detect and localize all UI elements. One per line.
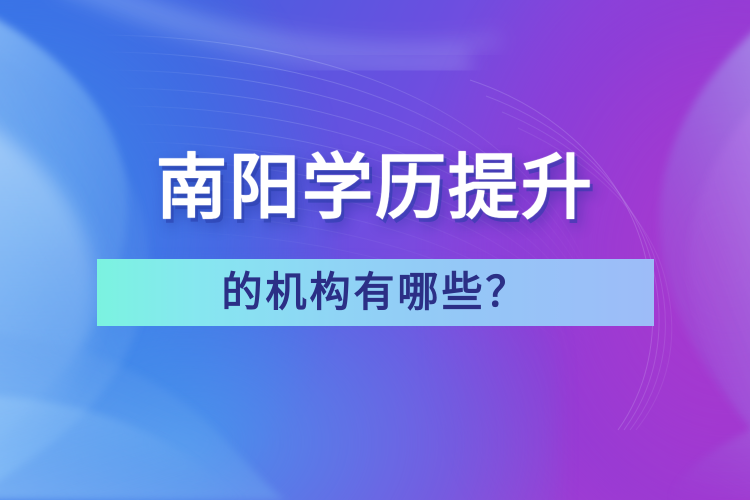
banner-subtitle-bar: 的机构有哪些？ bbox=[97, 259, 654, 326]
headline-text: 南阳学历提升 bbox=[156, 152, 594, 223]
subtitle-text: 的机构有哪些？ bbox=[222, 272, 530, 313]
banner-headline: 南阳学历提升 bbox=[0, 152, 750, 223]
line-fan-decoration bbox=[0, 0, 750, 500]
promo-banner: 南阳学历提升 的机构有哪些？ bbox=[0, 0, 750, 500]
